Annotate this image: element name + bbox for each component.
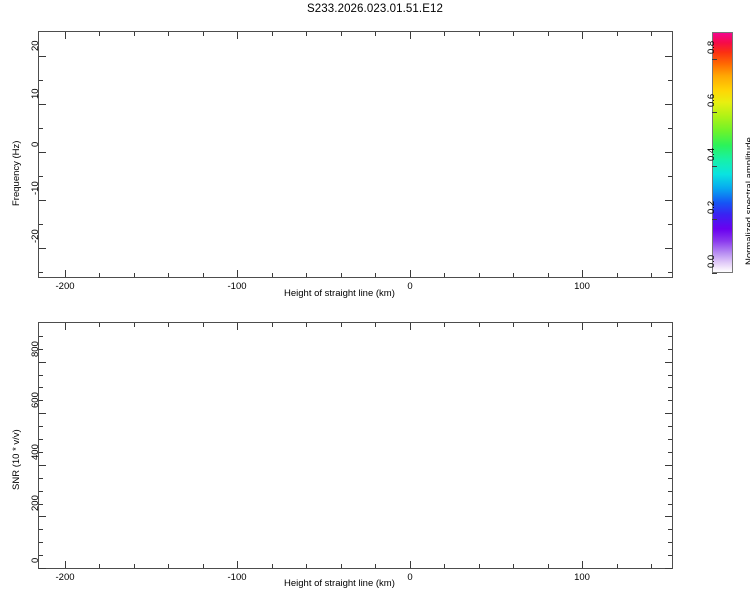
axis-tick	[617, 273, 618, 277]
axis-tick	[479, 564, 480, 568]
axis-tick	[668, 387, 672, 388]
axis-tick	[375, 564, 376, 568]
axis-tick	[306, 564, 307, 568]
axis-tick	[168, 564, 169, 568]
axis-tick	[306, 323, 307, 327]
axis-tick	[306, 273, 307, 277]
axis-tick	[668, 336, 672, 337]
axis-tick	[203, 32, 204, 36]
axis-tick	[341, 273, 342, 277]
axis-tick	[39, 491, 43, 492]
axis-tick	[548, 564, 549, 568]
axis-tick	[651, 32, 652, 36]
axis-tick	[665, 56, 672, 57]
axis-tick	[39, 272, 43, 273]
axis-tick	[665, 568, 672, 569]
axis-tick	[39, 439, 43, 440]
axis-tick	[582, 561, 583, 568]
axis-tick	[665, 200, 672, 201]
axis-tick	[668, 478, 672, 479]
axis-tick	[375, 323, 376, 327]
axis-tick	[668, 400, 672, 401]
axis-tick	[668, 349, 672, 350]
axis-tick	[272, 564, 273, 568]
axis-tick	[712, 59, 717, 60]
axis-tick	[39, 104, 46, 105]
spectrogram-frame	[38, 31, 673, 278]
axis-tick	[65, 270, 66, 277]
axis-tick	[203, 323, 204, 327]
axis-tick	[375, 273, 376, 277]
axis-tick	[651, 323, 652, 327]
axis-tick	[668, 426, 672, 427]
axis-tick	[665, 362, 672, 363]
axis-tick	[665, 465, 672, 466]
axis-tick	[548, 273, 549, 277]
axis-tick-label: -200	[55, 572, 74, 583]
axis-tick	[39, 516, 46, 517]
axis-tick	[39, 387, 43, 388]
axis-tick	[39, 465, 46, 466]
axis-tick	[444, 323, 445, 327]
axis-tick	[712, 273, 717, 274]
axis-tick	[651, 273, 652, 277]
axis-tick	[237, 561, 238, 568]
axis-tick	[39, 542, 43, 543]
axis-tick	[203, 564, 204, 568]
axis-tick	[410, 32, 411, 39]
axis-tick	[39, 529, 43, 530]
axis-tick	[99, 273, 100, 277]
axis-tick	[665, 152, 672, 153]
axis-tick	[39, 362, 46, 363]
axis-tick	[203, 273, 204, 277]
axis-tick	[39, 413, 46, 414]
axis-tick	[668, 375, 672, 376]
axis-tick	[410, 270, 411, 277]
axis-tick	[65, 561, 66, 568]
axis-tick	[668, 224, 672, 225]
axis-tick	[479, 32, 480, 36]
axis-tick	[665, 104, 672, 105]
axis-tick	[39, 128, 43, 129]
axis-tick-label: 0	[407, 572, 412, 583]
page-title: S233.2026.023.01.51.E12	[0, 3, 750, 15]
axis-tick	[237, 323, 238, 330]
axis-tick	[39, 248, 46, 249]
axis-tick	[272, 32, 273, 36]
axis-tick	[479, 273, 480, 277]
axis-tick	[134, 564, 135, 568]
axis-tick	[665, 413, 672, 414]
axis-tick	[39, 224, 43, 225]
axis-tick	[582, 32, 583, 39]
axis-tick	[65, 32, 66, 39]
axis-tick	[513, 323, 514, 327]
axis-tick	[39, 200, 46, 201]
axis-tick	[39, 152, 46, 153]
axis-tick	[712, 112, 717, 113]
axis-tick	[39, 176, 43, 177]
axis-tick	[617, 564, 618, 568]
axis-tick	[712, 219, 717, 220]
axis-tick-label: 0	[407, 281, 412, 292]
snr-xlabel: Height of straight line (km)	[284, 578, 395, 589]
axis-tick	[444, 273, 445, 277]
axis-tick	[712, 166, 717, 167]
axis-tick	[668, 491, 672, 492]
axis-tick	[582, 323, 583, 330]
axis-tick	[513, 273, 514, 277]
figure-root: S233.2026.023.01.51.E12 -200-1000100-20-…	[0, 0, 750, 600]
axis-tick	[668, 176, 672, 177]
axis-tick	[99, 32, 100, 36]
axis-tick-label: -100	[227, 572, 246, 583]
axis-tick	[444, 32, 445, 36]
axis-tick	[341, 32, 342, 36]
axis-tick-label: 100	[574, 572, 590, 583]
axis-tick-label: -100	[227, 281, 246, 292]
axis-tick	[39, 568, 46, 569]
axis-tick	[668, 272, 672, 273]
axis-tick	[237, 270, 238, 277]
axis-tick	[665, 248, 672, 249]
axis-tick	[444, 564, 445, 568]
axis-tick	[99, 564, 100, 568]
axis-tick	[168, 323, 169, 327]
axis-tick	[668, 439, 672, 440]
axis-tick	[99, 323, 100, 327]
axis-tick	[668, 128, 672, 129]
axis-tick	[39, 80, 43, 81]
axis-tick	[168, 32, 169, 36]
axis-tick	[39, 336, 43, 337]
axis-tick	[513, 32, 514, 36]
axis-tick	[341, 564, 342, 568]
axis-tick	[617, 32, 618, 36]
axis-tick-label: 100	[574, 281, 590, 292]
axis-tick	[651, 564, 652, 568]
axis-tick	[134, 273, 135, 277]
axis-tick	[341, 323, 342, 327]
axis-tick	[668, 555, 672, 556]
axis-tick	[668, 504, 672, 505]
axis-tick	[548, 32, 549, 36]
axis-tick	[513, 564, 514, 568]
axis-tick	[237, 32, 238, 39]
axis-tick	[39, 478, 43, 479]
axis-tick	[668, 452, 672, 453]
axis-tick	[39, 555, 43, 556]
axis-tick	[410, 561, 411, 568]
axis-tick	[548, 323, 549, 327]
axis-tick	[272, 323, 273, 327]
axis-tick	[39, 426, 43, 427]
axis-tick	[668, 80, 672, 81]
spectrogram-ylabel: Frequency (Hz)	[11, 141, 22, 206]
axis-tick	[39, 56, 46, 57]
axis-tick	[665, 516, 672, 517]
axis-tick	[410, 323, 411, 330]
axis-tick	[668, 542, 672, 543]
spectrogram-xlabel: Height of straight line (km)	[284, 288, 395, 299]
axis-tick	[306, 32, 307, 36]
axis-tick	[272, 273, 273, 277]
axis-tick	[134, 323, 135, 327]
snr-ylabel: SNR (10 * v/v)	[11, 429, 22, 490]
axis-tick	[134, 32, 135, 36]
axis-tick	[65, 323, 66, 330]
axis-tick-label: -200	[55, 281, 74, 292]
axis-tick	[668, 529, 672, 530]
axis-tick	[168, 273, 169, 277]
axis-tick	[617, 323, 618, 327]
axis-tick	[39, 375, 43, 376]
colorbar-label: Normalized spectral amplitude	[744, 137, 750, 265]
axis-tick	[375, 32, 376, 36]
snr-frame	[38, 322, 673, 569]
axis-tick	[582, 270, 583, 277]
axis-tick	[479, 323, 480, 327]
